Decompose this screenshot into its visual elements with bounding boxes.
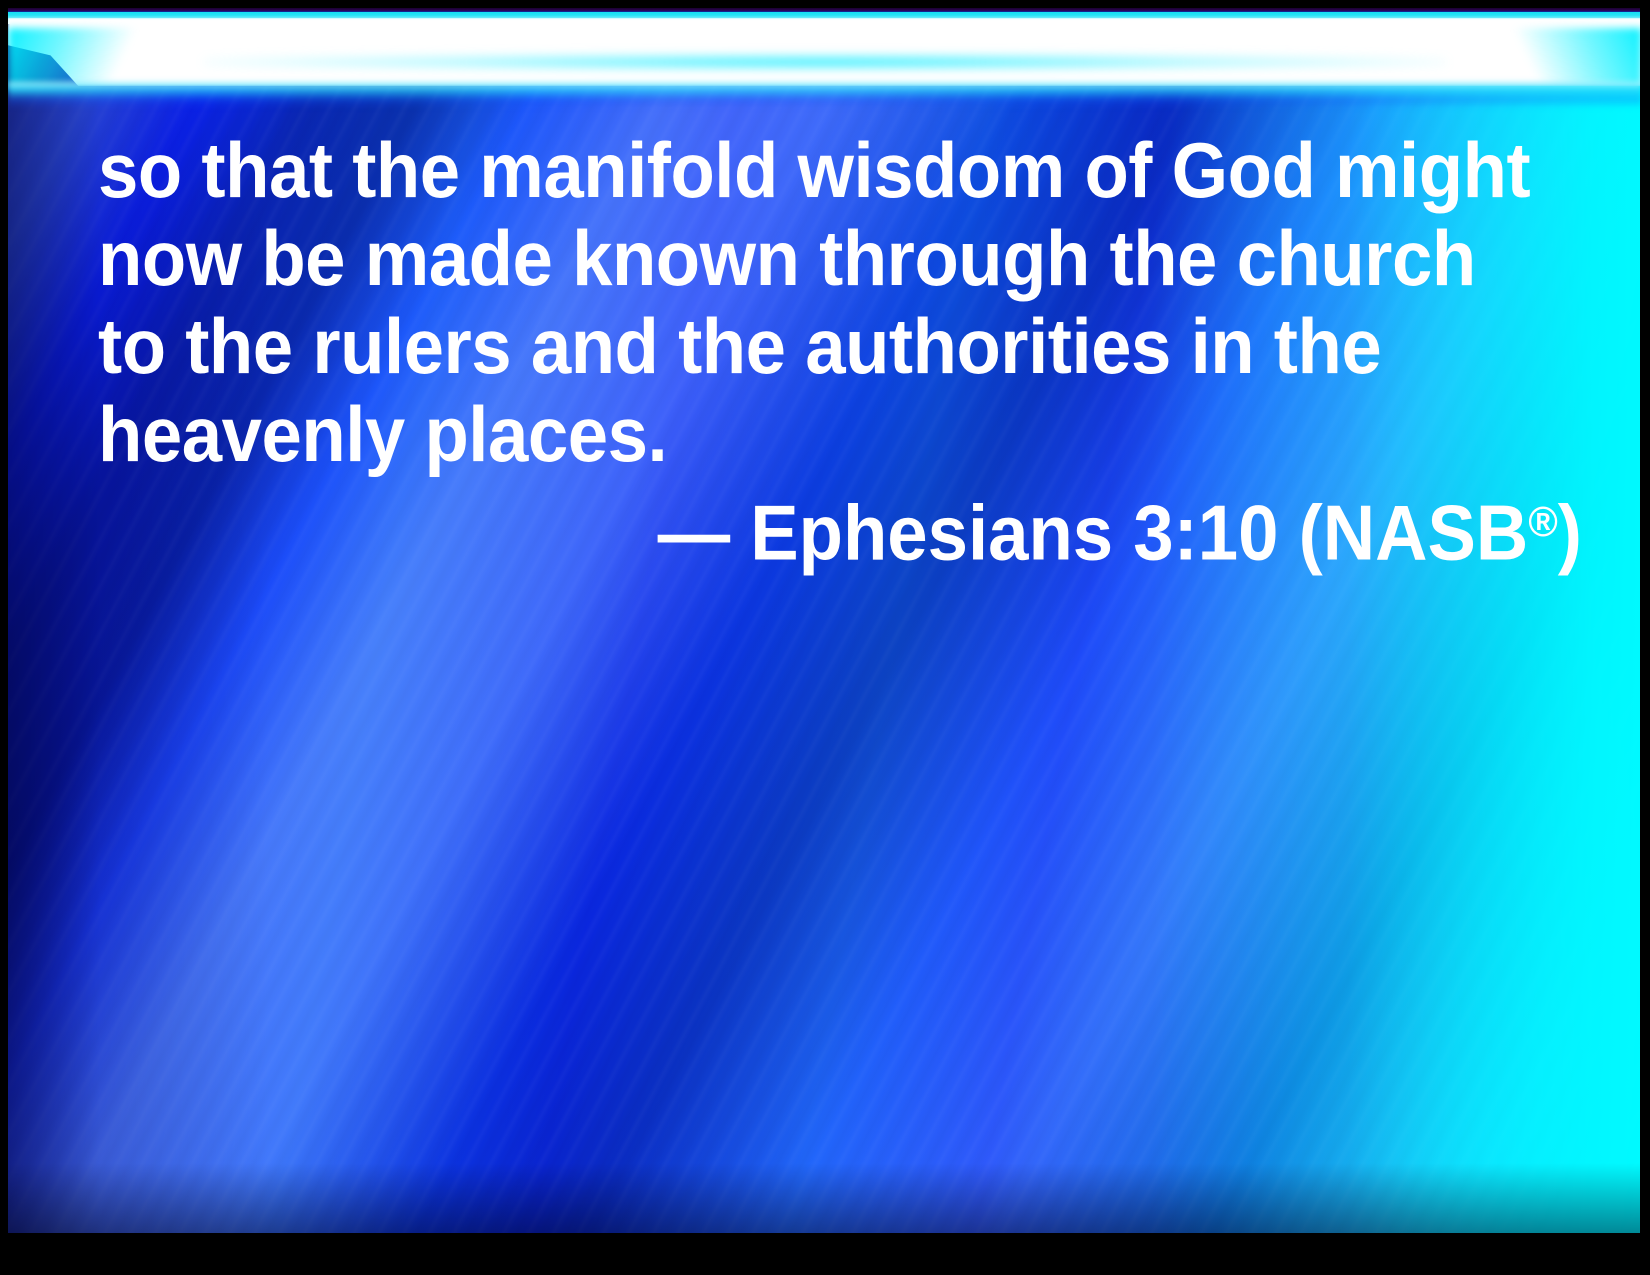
verse-line-2: now be made known through the church (98, 214, 1478, 302)
attribution-reference: Ephesians 3:10 (NASB (750, 489, 1528, 577)
attribution-em-dash: — (658, 489, 751, 577)
frame-border-right (1640, 0, 1650, 1275)
verse-slide: so that the manifold wisdom of God might… (0, 0, 1650, 1275)
attribution-closing-paren: ) (1558, 489, 1582, 577)
slide-background-panel: so that the manifold wisdom of God might… (8, 8, 1642, 1233)
verse-attribution-inner: — Ephesians 3:10 (NASB®) (658, 478, 1582, 577)
frame-border-top (0, 0, 1650, 8)
verse-line-3: to the rulers and the authorities in the (98, 302, 1478, 390)
frame-border-bottom (0, 1233, 1650, 1275)
frame-border-left (0, 0, 8, 1275)
glow-cyan-left-wedge (8, 28, 188, 90)
verse-text-block: so that the manifold wisdom of God might… (98, 126, 1582, 478)
glow-cyan-core-streak (204, 54, 1446, 70)
background-bottom-shadow (8, 1163, 1642, 1233)
verse-attribution: — Ephesians 3:10 (NASB®) (98, 478, 1582, 577)
registered-trademark-icon: ® (1528, 498, 1557, 546)
glow-top-frame-line (8, 8, 1642, 12)
glow-lower-falloff (8, 82, 1642, 108)
top-glow-bar (8, 8, 1642, 100)
verse-line-1: so that the manifold wisdom of God might (98, 126, 1478, 214)
glow-cyan-right-wedge (1462, 28, 1642, 90)
verse-line-4: heavenly places. (98, 390, 1478, 478)
glow-white-band (8, 18, 1642, 86)
